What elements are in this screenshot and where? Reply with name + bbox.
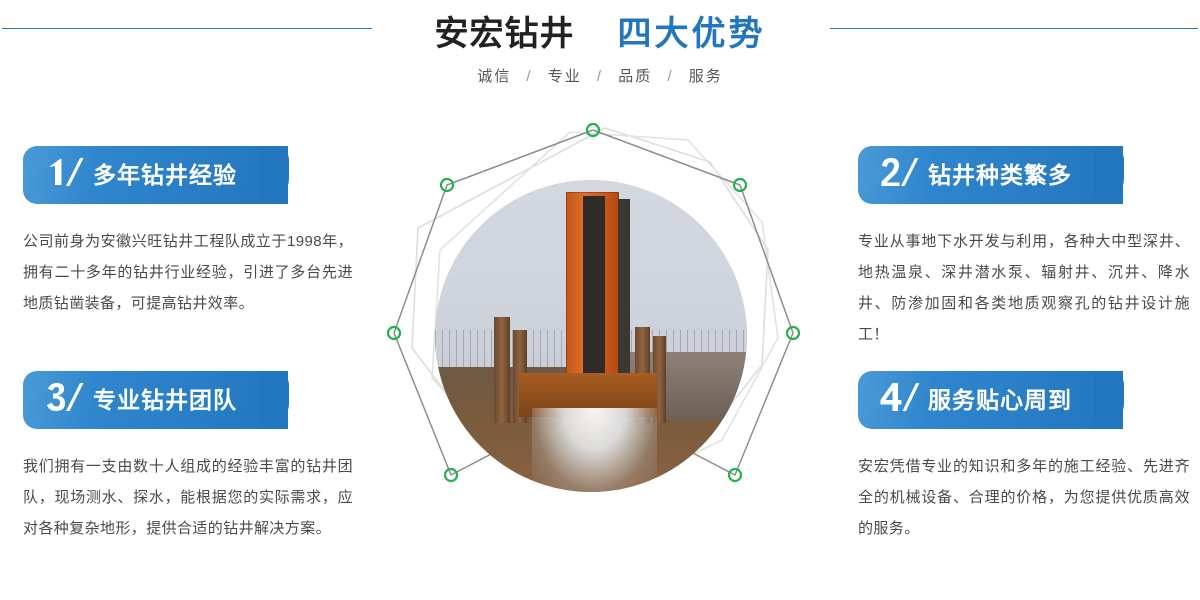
number-3-icon: [41, 378, 89, 422]
feature-3-banner: 专业钻井团队: [23, 371, 288, 429]
subtitle-item-0: 诚信: [477, 68, 511, 85]
photo-pipe-1: [494, 317, 510, 423]
subtitle-separator-1: /: [588, 68, 612, 85]
drilling-rig-photo: [435, 180, 747, 492]
feature-1-body: 公司前身为安徽兴旺钻井工程队成立于1998年，拥有二十多年的钻井行业经验，引进了…: [23, 226, 353, 319]
feature-card-2[interactable]: 钻井种类繁多 专业从事地下水开发与利用，各种大中型深井、地热温泉、深井潜水泵、辐…: [858, 146, 1200, 350]
feature-card-4[interactable]: 服务贴心周到 安宏凭借专业的知识和多年的施工经验、先进齐全的机械设备、合理的价格…: [858, 371, 1200, 544]
feature-4-body: 安宏凭借专业的知识和多年的施工经验、先进齐全的机械设备、合理的价格，为您提供优质…: [858, 451, 1190, 544]
number-1-icon: [41, 153, 89, 197]
subtitle-separator-0: /: [517, 68, 541, 85]
page-header: 安宏钻井 四大优势 诚信 / 专业 / 品质 / 服务: [0, 0, 1200, 110]
feature-1-banner: 多年钻井经验: [23, 146, 288, 204]
feature-4-title: 服务贴心周到: [928, 389, 1072, 412]
feature-3-body: 我们拥有一支由数十人组成的经验丰富的钻井团队，现场测水、探水，能根据您的实际需求…: [23, 451, 353, 544]
photo-water-spray: [532, 408, 657, 492]
subtitle-item-2: 品质: [618, 68, 652, 85]
number-2-icon: [876, 153, 924, 197]
feature-2-title: 钻井种类繁多: [928, 164, 1072, 187]
number-4-icon: [876, 378, 924, 422]
subtitle-item-3: 服务: [689, 68, 723, 85]
page-subtitle: 诚信 / 专业 / 品质 / 服务: [0, 65, 1200, 86]
center-graphic: [370, 110, 830, 590]
page-title: 安宏钻井 四大优势: [0, 12, 1200, 56]
photo-rig-arm: [618, 199, 630, 374]
subtitle-item-1: 专业: [548, 68, 582, 85]
feature-card-1[interactable]: 多年钻井经验 公司前身为安徽兴旺钻井工程队成立于1998年，拥有二十多年的钻井行…: [23, 146, 371, 319]
feature-2-body: 专业从事地下水开发与利用，各种大中型深井、地热温泉、深井潜水泵、辐射井、沉井、降…: [858, 226, 1190, 350]
subtitle-separator-2: /: [658, 68, 682, 85]
feature-2-banner: 钻井种类繁多: [858, 146, 1123, 204]
advantages-section: 安宏钻井 四大优势 诚信 / 专业 / 品质 / 服务 多年钻井经验 公司前身为…: [0, 0, 1200, 600]
feature-card-3[interactable]: 专业钻井团队 我们拥有一支由数十人组成的经验丰富的钻井团队，现场测水、探水，能根…: [23, 371, 371, 544]
feature-3-title: 专业钻井团队: [93, 389, 237, 412]
feature-1-title: 多年钻井经验: [93, 164, 237, 187]
page-title-highlight: 四大优势: [617, 15, 765, 53]
feature-4-banner: 服务贴心周到: [858, 371, 1123, 429]
page-title-company: 安宏钻井: [435, 15, 575, 53]
photo-rig-core: [583, 196, 605, 377]
